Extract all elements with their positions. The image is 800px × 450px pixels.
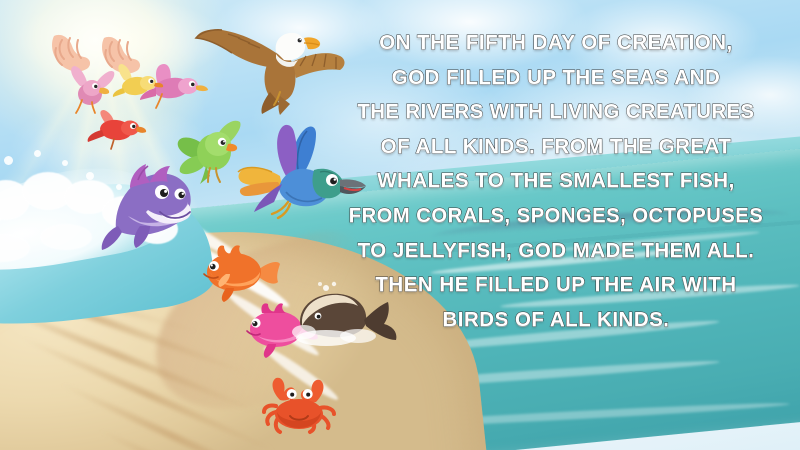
verse-text-block: ON THE FIFTH DAY OF CREATION, GOD FILLED…	[334, 26, 778, 337]
orange-fish-icon	[196, 244, 280, 304]
bald-eagle-icon	[188, 12, 348, 117]
verse-line: THEN HE FILLED UP THE AIR WITH	[334, 268, 778, 303]
verse-line: WHALES TO THE SMALLEST FISH,	[334, 164, 778, 199]
creation-illustration: ON THE FIFTH DAY OF CREATION, GOD FILLED…	[0, 0, 800, 450]
verse-line: ON THE FIFTH DAY OF CREATION,	[334, 26, 778, 61]
verse-line: TO JELLYFISH, GOD MADE THEM ALL.	[334, 234, 778, 269]
verse-line: BIRDS OF ALL KINDS.	[334, 303, 778, 338]
verse-line: GOD FILLED UP THE SEAS AND	[334, 61, 778, 96]
purple-dolphin-icon	[96, 160, 200, 252]
orange-crab-icon	[262, 372, 338, 434]
red-bird-icon	[86, 108, 148, 150]
yellow-bird-icon	[110, 62, 166, 104]
verse-line: OF ALL KINDS. FROM THE GREAT	[334, 130, 778, 165]
verse-line: FROM CORALS, SPONGES, OCTOPUSES	[334, 199, 778, 234]
verse-line: THE RIVERS WITH LIVING CREATURES	[334, 95, 778, 130]
